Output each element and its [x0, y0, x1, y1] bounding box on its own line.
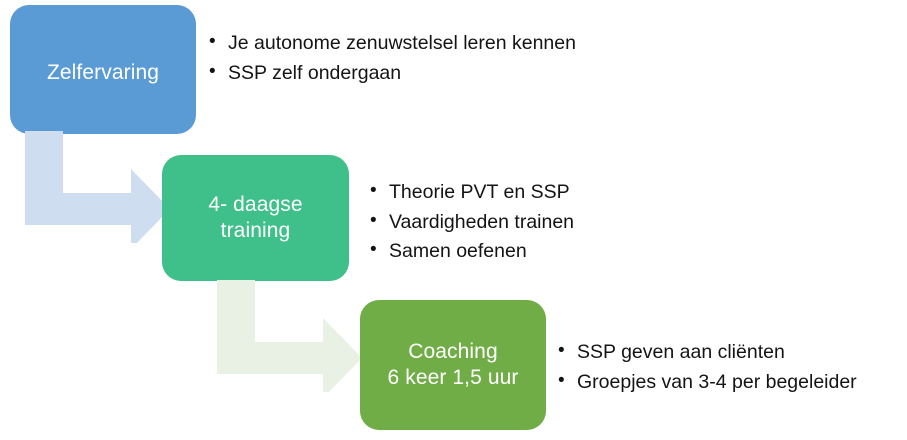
arrow-zelfervaring-to-training	[18, 131, 174, 248]
process-box-zelfervaring-label: Zelfervaring	[47, 60, 159, 86]
bullet-list-zelfervaring: Je autonome zenuwstelsel leren kennen SS…	[209, 29, 576, 88]
process-box-training[interactable]: 4- daagse training	[162, 155, 349, 281]
process-box-coaching[interactable]: Coaching 6 keer 1,5 uur	[360, 300, 546, 430]
list-item: Je autonome zenuwstelsel leren kennen	[209, 29, 576, 59]
list-item: SSP geven aan cliënten	[558, 338, 857, 368]
list-item: Theorie PVT en SSP	[370, 178, 574, 208]
process-box-zelfervaring[interactable]: Zelfervaring	[10, 5, 196, 134]
arrow-training-to-coaching	[210, 280, 366, 397]
process-box-training-label: 4- daagse training	[208, 192, 302, 243]
list-item: Samen oefenen	[370, 237, 574, 267]
list-item: SSP zelf ondergaan	[209, 59, 576, 89]
bullet-list-coaching: SSP geven aan cliënten Groepjes van 3-4 …	[558, 338, 857, 397]
diagram-canvas: Zelfervaring Je autonome zenuwstelsel le…	[0, 0, 907, 440]
list-item: Vaardigheden trainen	[370, 208, 574, 238]
process-box-coaching-label: Coaching 6 keer 1,5 uur	[388, 339, 519, 390]
list-item: Groepjes van 3-4 per begeleider	[558, 368, 857, 398]
bullet-list-training: Theorie PVT en SSP Vaardigheden trainen …	[370, 178, 574, 267]
